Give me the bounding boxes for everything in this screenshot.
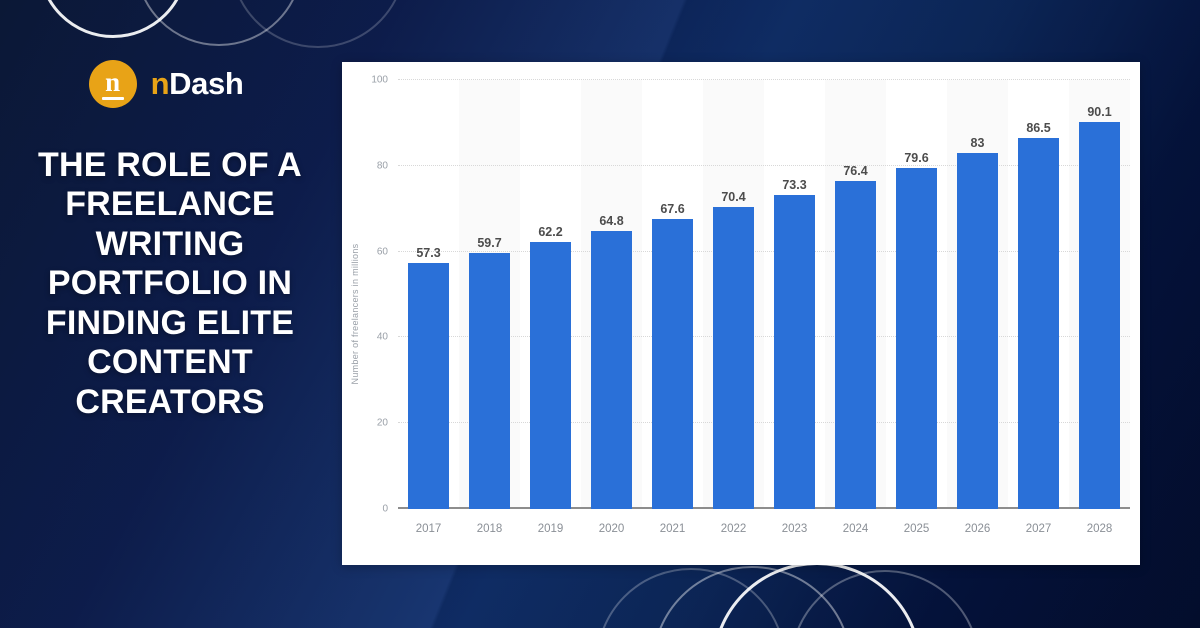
x-axis-tick-label: 2027 [1026, 523, 1052, 535]
x-axis-tick-label: 2018 [477, 523, 503, 535]
bar-column[interactable]: 86.52027 [1018, 80, 1059, 509]
bar-value-label: 83 [971, 136, 985, 150]
bar-value-label: 62.2 [538, 225, 562, 239]
bar[interactable] [652, 219, 693, 509]
wordmark-rest: Dash [169, 66, 243, 101]
plot-region: 02040608010057.3201759.7201862.2201964.8… [398, 80, 1130, 509]
x-axis-tick-label: 2023 [782, 523, 808, 535]
y-axis-title: Number of freelancers in millions [350, 243, 360, 384]
page-title: THE ROLE OF A FREELANCE WRITING PORTFOLI… [20, 146, 320, 422]
x-axis-tick-label: 2021 [660, 523, 686, 535]
bar-column[interactable]: 57.32017 [408, 80, 449, 509]
chart: Number of freelancers in millions 020406… [342, 62, 1140, 565]
bar-value-label: 86.5 [1026, 121, 1050, 135]
bar-value-label: 64.8 [599, 214, 623, 228]
bar-column[interactable]: 70.42022 [713, 80, 754, 509]
logo-underline [102, 97, 124, 100]
bar[interactable] [713, 207, 754, 509]
ndash-circle-logo-icon: n [89, 60, 137, 108]
bar-column[interactable]: 90.12028 [1079, 80, 1120, 509]
bar-value-label: 90.1 [1087, 105, 1111, 119]
x-axis-tick-label: 2020 [599, 523, 625, 535]
y-axis-tick-label: 40 [377, 332, 388, 343]
y-axis-tick-label: 60 [377, 246, 388, 257]
bar-column[interactable]: 64.82020 [591, 80, 632, 509]
bar[interactable] [1079, 122, 1120, 509]
bar-column[interactable]: 67.62021 [652, 80, 693, 509]
x-axis-tick-label: 2025 [904, 523, 930, 535]
bar[interactable] [835, 181, 876, 509]
plot-area: 02040608010057.3201759.7201862.2201964.8… [398, 80, 1130, 509]
x-axis-tick-label: 2022 [721, 523, 747, 535]
bar[interactable] [896, 168, 937, 509]
bar[interactable] [957, 153, 998, 509]
y-axis-tick-label: 100 [371, 75, 388, 86]
x-axis-tick-label: 2017 [416, 523, 442, 535]
y-axis-tick-label: 0 [382, 504, 388, 515]
bar[interactable] [469, 253, 510, 509]
bar-value-label: 67.6 [660, 202, 684, 216]
bar[interactable] [591, 231, 632, 509]
bar-column[interactable]: 832026 [957, 80, 998, 509]
x-axis-tick-label: 2026 [965, 523, 991, 535]
bar[interactable] [774, 195, 815, 509]
x-axis-tick-label: 2019 [538, 523, 564, 535]
y-axis-tick-label: 80 [377, 160, 388, 171]
bar-column[interactable]: 62.22019 [530, 80, 571, 509]
brand-logo: n nDash [89, 60, 244, 108]
bar-column[interactable]: 59.72018 [469, 80, 510, 509]
bar[interactable] [530, 242, 571, 509]
bar[interactable] [408, 263, 449, 509]
y-axis-tick-label: 20 [377, 418, 388, 429]
chart-card: Number of freelancers in millions 020406… [342, 62, 1140, 565]
bar-value-label: 57.3 [416, 246, 440, 260]
wordmark-accent: n [151, 66, 170, 101]
bar-value-label: 59.7 [477, 236, 501, 250]
x-axis-tick-label: 2028 [1087, 523, 1113, 535]
logo-letter: n [105, 69, 120, 96]
left-panel: n nDash THE ROLE OF A FREELANCE WRITING … [0, 0, 340, 628]
bar-column[interactable]: 76.42024 [835, 80, 876, 509]
bar-value-label: 70.4 [721, 190, 745, 204]
bar-value-label: 79.6 [904, 151, 928, 165]
bar-value-label: 73.3 [782, 178, 806, 192]
x-axis-tick-label: 2024 [843, 523, 869, 535]
bar-column[interactable]: 73.32023 [774, 80, 815, 509]
bar[interactable] [1018, 138, 1059, 509]
bar-value-label: 76.4 [843, 164, 867, 178]
brand-wordmark: nDash [151, 66, 244, 102]
bar-column[interactable]: 79.62025 [896, 80, 937, 509]
